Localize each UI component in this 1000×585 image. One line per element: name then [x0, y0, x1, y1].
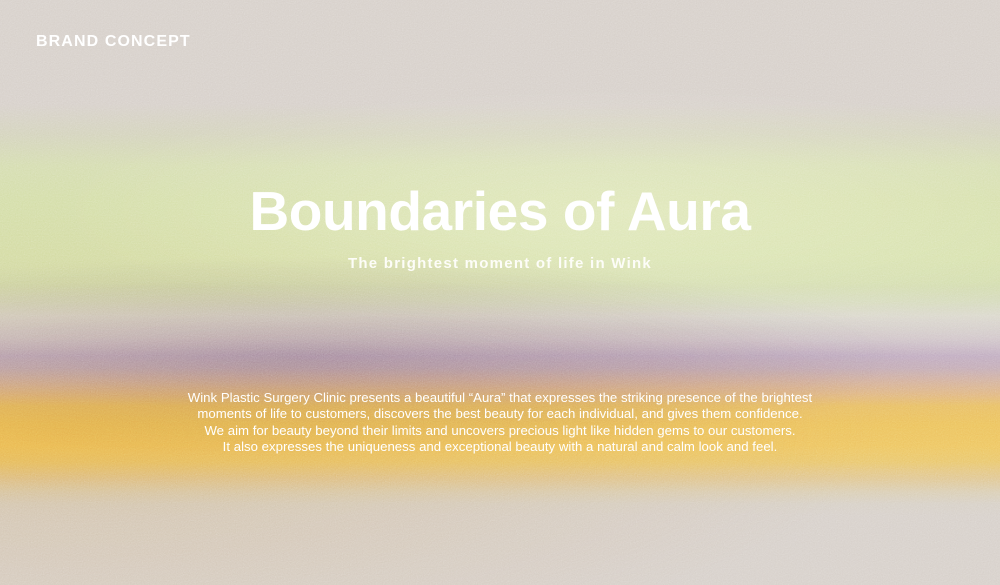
body-line: We aim for beauty beyond their limits an…: [0, 423, 1000, 439]
brand-concept-slide: BRAND CONCEPT Boundaries of Aura The bri…: [0, 0, 1000, 585]
aura-gradient-bands: [0, 0, 1000, 585]
body-line: moments of life to customers, discovers …: [0, 406, 1000, 422]
headline-block: Boundaries of Aura The brightest moment …: [0, 182, 1000, 272]
body-line: It also expresses the uniqueness and exc…: [0, 439, 1000, 455]
page-subtitle: The brightest moment of life in Wink: [0, 255, 1000, 272]
aura-violet-glow: [0, 0, 1000, 585]
aura-green-glow: [0, 0, 1000, 585]
aura-pale-veil: [0, 0, 1000, 585]
aura-pink-haze: [0, 0, 1000, 585]
film-grain-overlay: [0, 0, 1000, 585]
page-title: Boundaries of Aura: [0, 182, 1000, 241]
body-copy: Wink Plastic Surgery Clinic presents a b…: [0, 390, 1000, 455]
body-line: Wink Plastic Surgery Clinic presents a b…: [0, 390, 1000, 406]
aura-warm-gold-glow: [0, 0, 1000, 585]
eyebrow-label: BRAND CONCEPT: [36, 33, 191, 51]
